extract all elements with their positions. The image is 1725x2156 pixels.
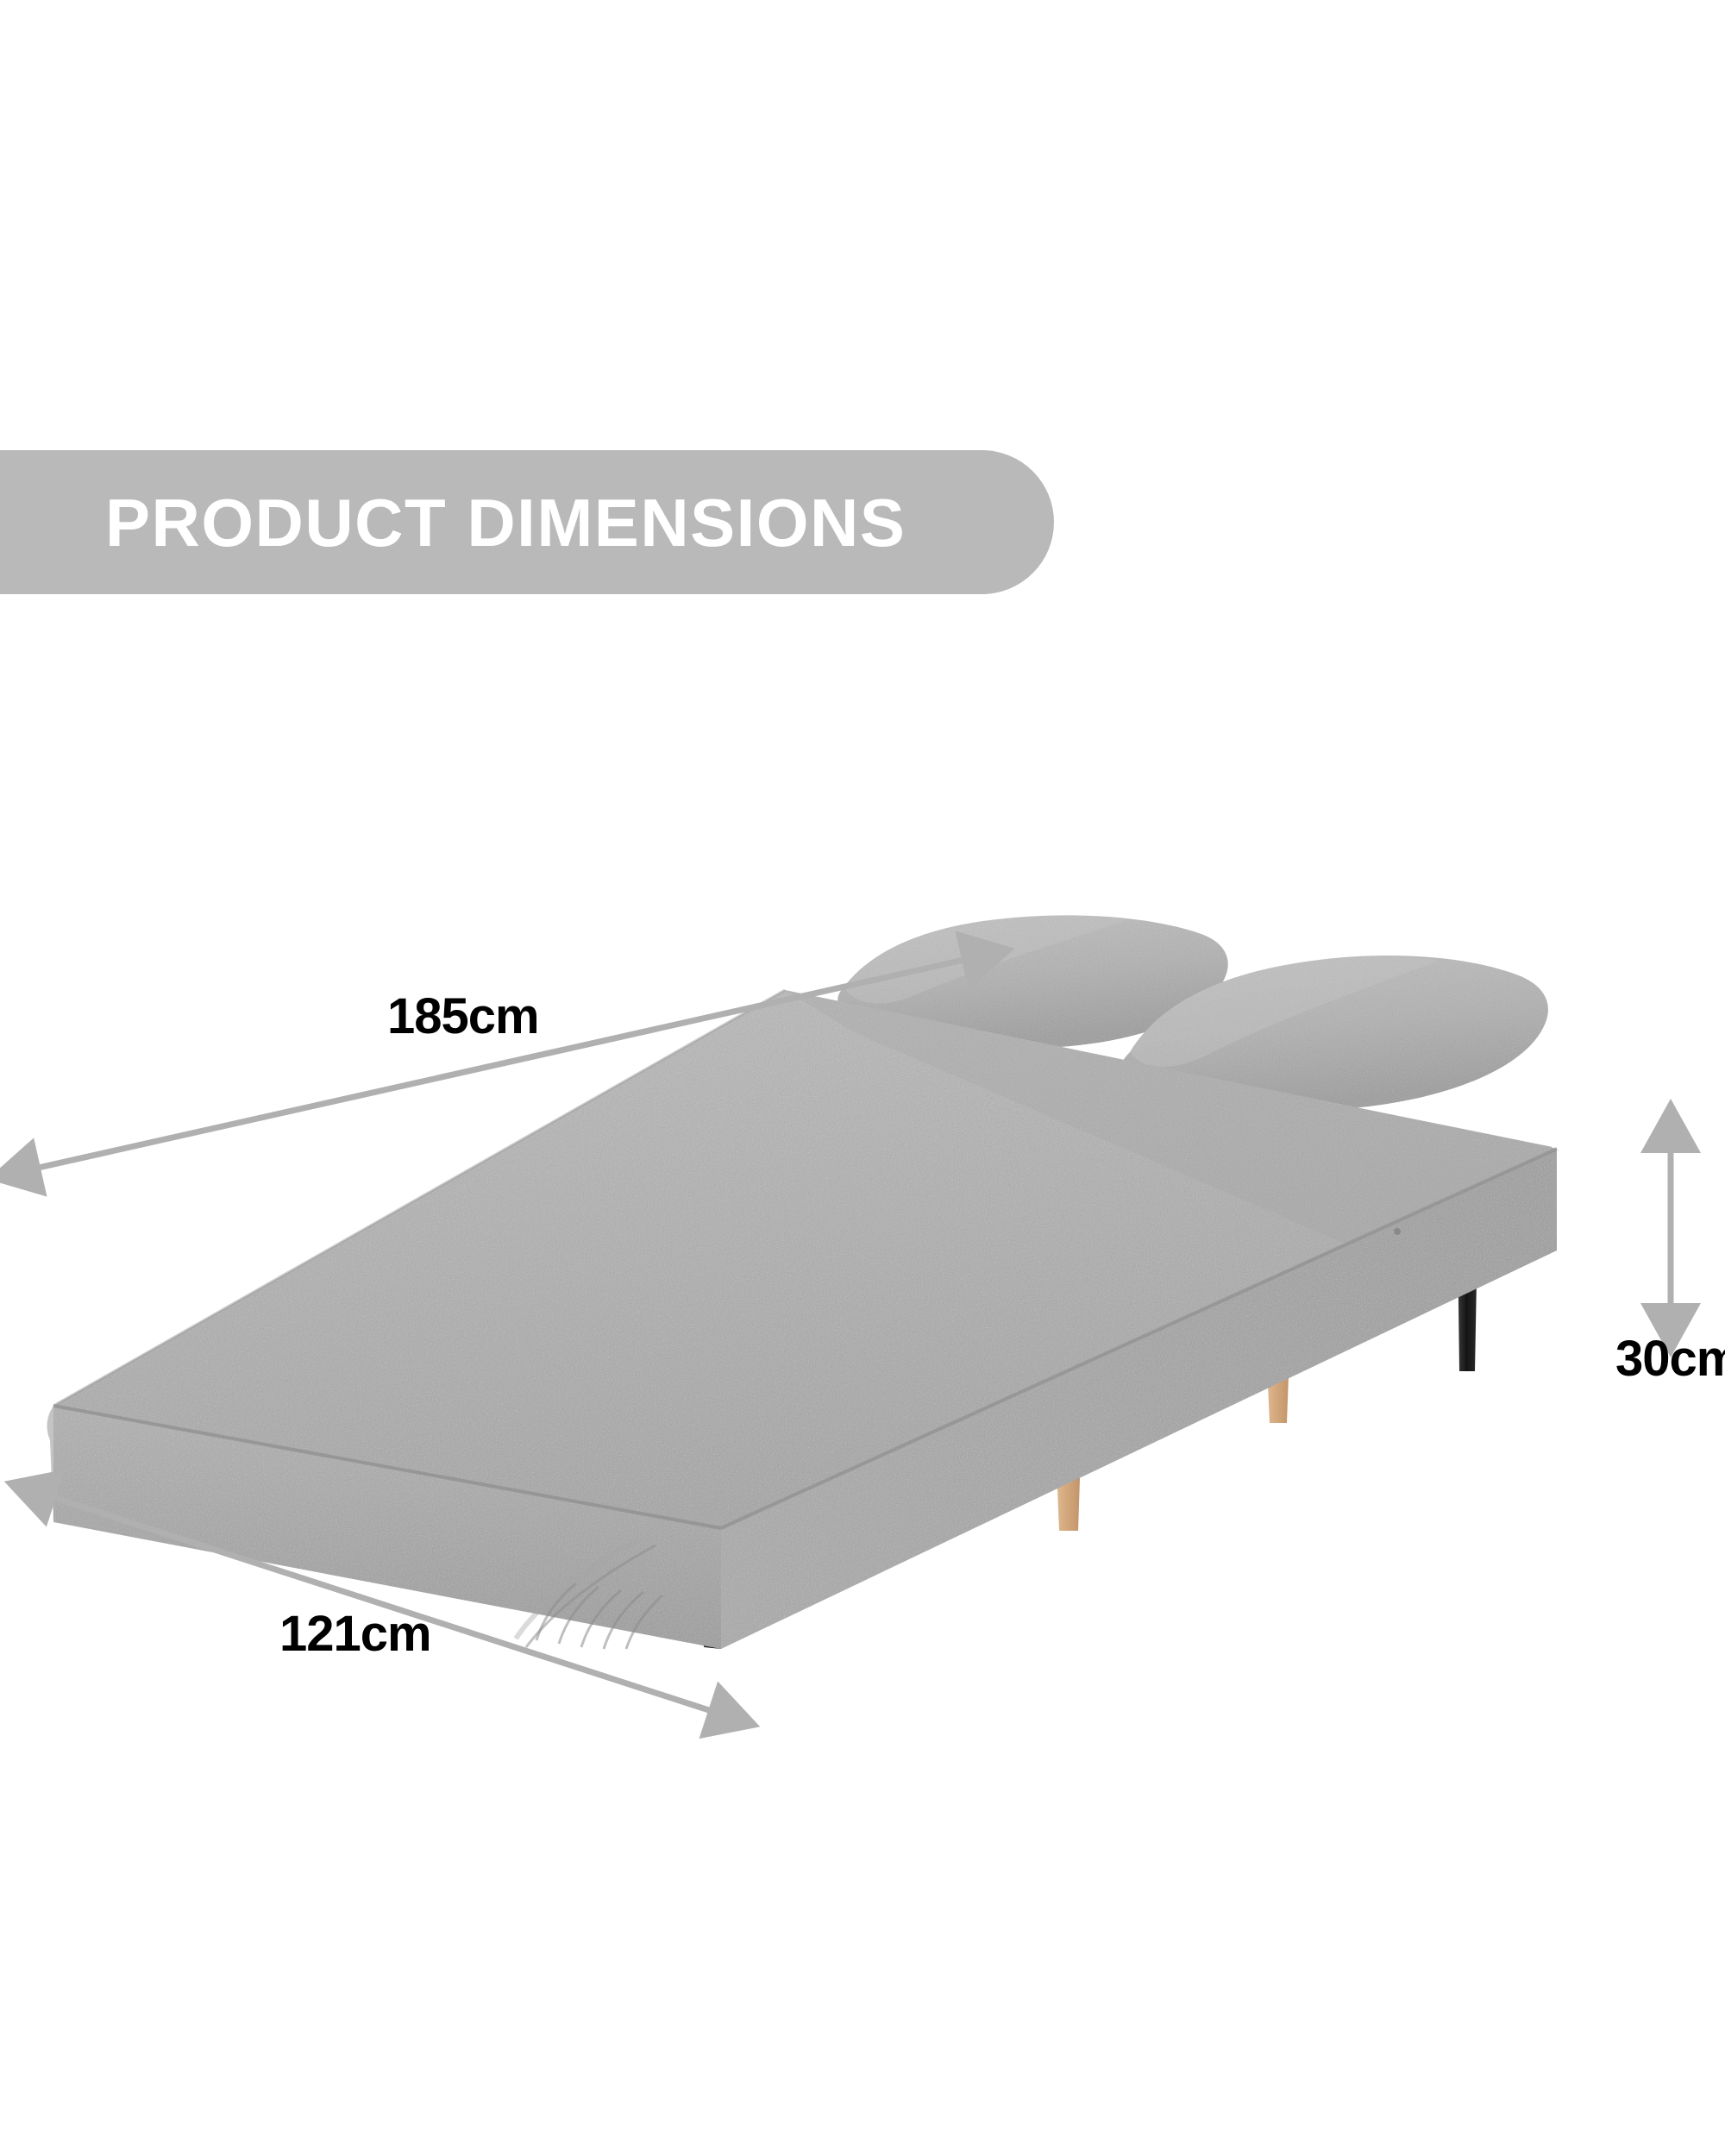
width-dimension-label: 121cm [279,1609,431,1659]
product-illustration [0,888,1725,1880]
page-title: PRODUCT DIMENSIONS [105,489,906,556]
product-dimensions-banner: PRODUCT DIMENSIONS [0,450,1054,594]
height-dimension-label: 30cm [1615,1334,1725,1384]
product-dimensions-page: PRODUCT DIMENSIONS [0,0,1725,2156]
length-dimension-label: 185cm [387,992,539,1042]
